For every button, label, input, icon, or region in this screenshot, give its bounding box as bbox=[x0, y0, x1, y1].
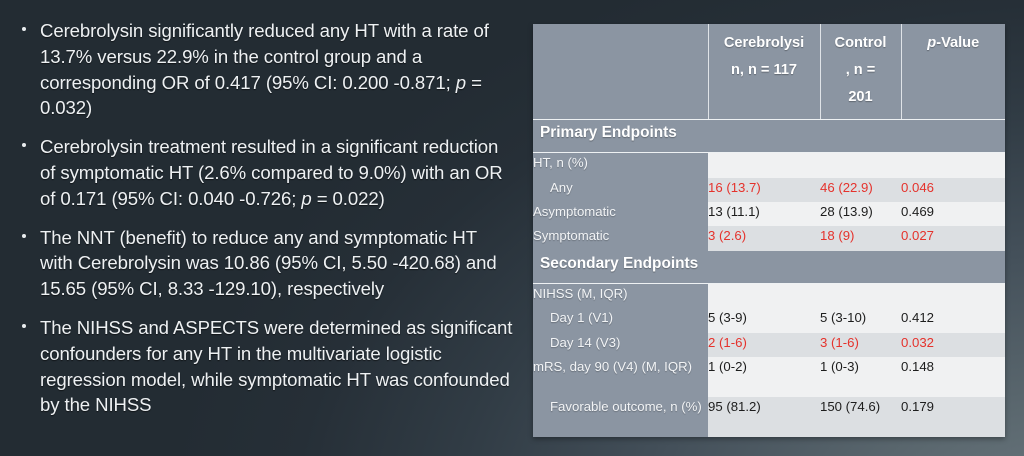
bullet-dot-icon bbox=[22, 234, 26, 238]
cell-control: 1 (0-3) bbox=[820, 357, 901, 397]
row-label: Day 14 (V3) bbox=[533, 333, 708, 358]
bullet-text: The NIHSS and ASPECTS were determined as… bbox=[40, 317, 512, 415]
header-cerebrolysin: Cerebrolysin, n = 117 bbox=[708, 24, 820, 120]
cell-cerebrolysin bbox=[708, 152, 820, 177]
cell-control: 46 (22.9) bbox=[820, 178, 901, 202]
row-label: Any bbox=[533, 178, 708, 202]
cell-control: 28 (13.9) bbox=[820, 202, 901, 226]
section-row-primary-endpoints: Primary Endpoints bbox=[533, 120, 1005, 153]
cell-cerebrolysin: 95 (81.2) bbox=[708, 397, 820, 437]
cell-cerebrolysin: 5 (3-9) bbox=[708, 308, 820, 332]
section-title: Primary Endpoints bbox=[533, 120, 1005, 153]
cell-pvalue: 0.179 bbox=[901, 397, 1005, 437]
table-head: Cerebrolysin, n = 117 Control, n =201 p-… bbox=[533, 24, 1005, 120]
cell-control: 150 (74.6) bbox=[820, 397, 901, 437]
cell-pvalue: 0.412 bbox=[901, 308, 1005, 332]
bullet-dot-icon bbox=[22, 143, 26, 147]
cell-control bbox=[820, 283, 901, 308]
bullet-text: Cerebrolysin treatment resulted in a sig… bbox=[40, 136, 503, 209]
row-label: HT, n (%) bbox=[533, 152, 708, 177]
cell-control: 3 (1-6) bbox=[820, 333, 901, 358]
cell-control bbox=[820, 152, 901, 177]
bullet-confounders: The NIHSS and ASPECTS were determined as… bbox=[14, 315, 514, 418]
cell-cerebrolysin: 16 (13.7) bbox=[708, 178, 820, 202]
header-blank bbox=[533, 24, 708, 120]
results-table-container: Cerebrolysin, n = 117 Control, n =201 p-… bbox=[533, 24, 1005, 437]
cell-pvalue: 0.148 bbox=[901, 357, 1005, 397]
section-row-secondary-endpoints: Secondary Endpoints bbox=[533, 251, 1005, 283]
header-control: Control, n =201 bbox=[820, 24, 901, 120]
cell-cerebrolysin: 2 (1-6) bbox=[708, 333, 820, 358]
bullet-text: Cerebrolysin significantly reduced any H… bbox=[40, 20, 489, 118]
table-row: Day 14 (V3)2 (1-6)3 (1-6)0.032 bbox=[533, 333, 1005, 358]
table-body: Primary EndpointsHT, n (%)Any16 (13.7)46… bbox=[533, 120, 1005, 438]
row-label: Asymptomatic bbox=[533, 202, 708, 226]
cell-pvalue bbox=[901, 152, 1005, 177]
row-label: NIHSS (M, IQR) bbox=[533, 283, 708, 308]
results-table: Cerebrolysin, n = 117 Control, n =201 p-… bbox=[533, 24, 1005, 437]
cell-pvalue: 0.046 bbox=[901, 178, 1005, 202]
section-title: Secondary Endpoints bbox=[533, 251, 1005, 283]
bullet-dot-icon bbox=[22, 27, 26, 31]
cell-pvalue: 0.032 bbox=[901, 333, 1005, 358]
row-label: Symptomatic bbox=[533, 226, 708, 250]
cell-control: 5 (3-10) bbox=[820, 308, 901, 332]
bullet-nnt: The NNT (benefit) to reduce any and symp… bbox=[14, 225, 514, 302]
table-row: HT, n (%) bbox=[533, 152, 1005, 177]
bullet-any-ht-rate: Cerebrolysin significantly reduced any H… bbox=[14, 18, 514, 121]
header-row: Cerebrolysin, n = 117 Control, n =201 p-… bbox=[533, 24, 1005, 120]
table-row: Asymptomatic13 (11.1)28 (13.9)0.469 bbox=[533, 202, 1005, 226]
cell-cerebrolysin: 1 (0-2) bbox=[708, 357, 820, 397]
bullet-dot-icon bbox=[22, 324, 26, 328]
table-row: Day 1 (V1)5 (3-9)5 (3-10)0.412 bbox=[533, 308, 1005, 332]
cell-cerebrolysin bbox=[708, 283, 820, 308]
cell-cerebrolysin: 13 (11.1) bbox=[708, 202, 820, 226]
cell-cerebrolysin: 3 (2.6) bbox=[708, 226, 820, 250]
slide-canvas: Cerebrolysin significantly reduced any H… bbox=[0, 0, 1024, 456]
row-label: mRS, day 90 (V4) (M, IQR) bbox=[533, 357, 708, 397]
header-pvalue: p-Value bbox=[901, 24, 1005, 120]
table-row: Favorable outcome, n (%)95 (81.2)150 (74… bbox=[533, 397, 1005, 437]
cell-pvalue: 0.027 bbox=[901, 226, 1005, 250]
table-row: Symptomatic3 (2.6)18 (9)0.027 bbox=[533, 226, 1005, 250]
bullet-list: Cerebrolysin significantly reduced any H… bbox=[14, 18, 514, 442]
cell-control: 18 (9) bbox=[820, 226, 901, 250]
cell-pvalue bbox=[901, 283, 1005, 308]
row-label: Day 1 (V1) bbox=[533, 308, 708, 332]
table-row: mRS, day 90 (V4) (M, IQR)1 (0-2)1 (0-3)0… bbox=[533, 357, 1005, 397]
bullet-symptomatic-ht: Cerebrolysin treatment resulted in a sig… bbox=[14, 134, 514, 211]
cell-pvalue: 0.469 bbox=[901, 202, 1005, 226]
table-row: Any16 (13.7)46 (22.9)0.046 bbox=[533, 178, 1005, 202]
table-row: NIHSS (M, IQR) bbox=[533, 283, 1005, 308]
bullet-text: The NNT (benefit) to reduce any and symp… bbox=[40, 227, 497, 300]
row-label: Favorable outcome, n (%) bbox=[533, 397, 708, 437]
